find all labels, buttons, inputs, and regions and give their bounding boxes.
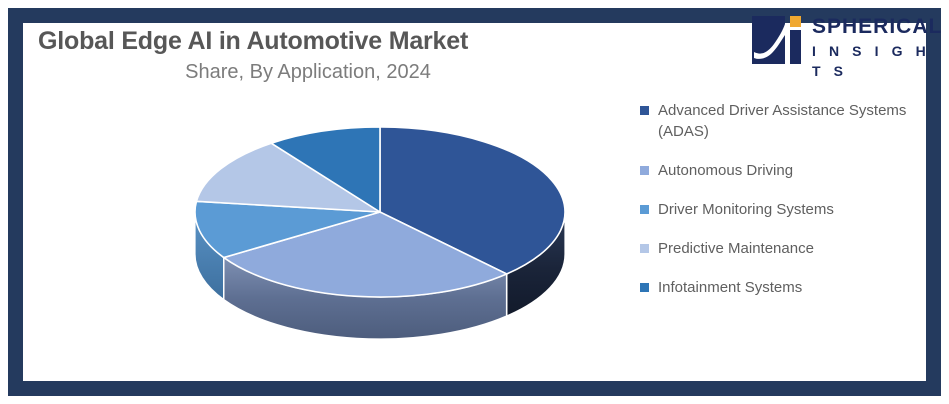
pie-chart <box>178 126 582 366</box>
brand-wordmark: SPHERICAL I N S I G H T S <box>812 15 932 81</box>
spherical-insights-logo-icon <box>752 16 804 64</box>
page-subtitle: Share, By Application, 2024 <box>38 61 578 84</box>
legend-item[interactable]: Predictive Maintenance <box>640 238 930 259</box>
legend-swatch-icon <box>640 106 649 115</box>
brand-logo: SPHERICAL I N S I G H T S <box>752 14 928 68</box>
brand-name-secondary: I N S I G H T S <box>812 41 932 81</box>
legend-item[interactable]: Autonomous Driving <box>640 160 930 181</box>
legend-item-label: Infotainment Systems <box>658 277 802 298</box>
brand-name-primary: SPHERICAL <box>812 15 932 39</box>
page-title: Global Edge AI in Automotive Market <box>38 27 578 56</box>
legend-item[interactable]: Driver Monitoring Systems <box>640 199 930 220</box>
legend-item[interactable]: Infotainment Systems <box>640 277 930 298</box>
legend-item-label: Predictive Maintenance <box>658 238 814 259</box>
legend-swatch-icon <box>640 244 649 253</box>
card-border-bottom <box>8 381 941 396</box>
legend-swatch-icon <box>640 283 649 292</box>
card-border-left <box>8 8 23 396</box>
infographic-card: Global Edge AI in Automotive Market Shar… <box>0 0 949 404</box>
legend-swatch-icon <box>640 166 649 175</box>
legend-item-label: Driver Monitoring Systems <box>658 199 834 220</box>
legend-swatch-icon <box>640 205 649 214</box>
legend-item-label: Autonomous Driving <box>658 160 793 181</box>
legend-item-label: Advanced Driver Assistance Systems (ADAS… <box>658 100 930 142</box>
pie-chart-svg <box>178 126 582 366</box>
chart-legend: Advanced Driver Assistance Systems (ADAS… <box>640 100 930 316</box>
legend-item[interactable]: Advanced Driver Assistance Systems (ADAS… <box>640 100 930 142</box>
